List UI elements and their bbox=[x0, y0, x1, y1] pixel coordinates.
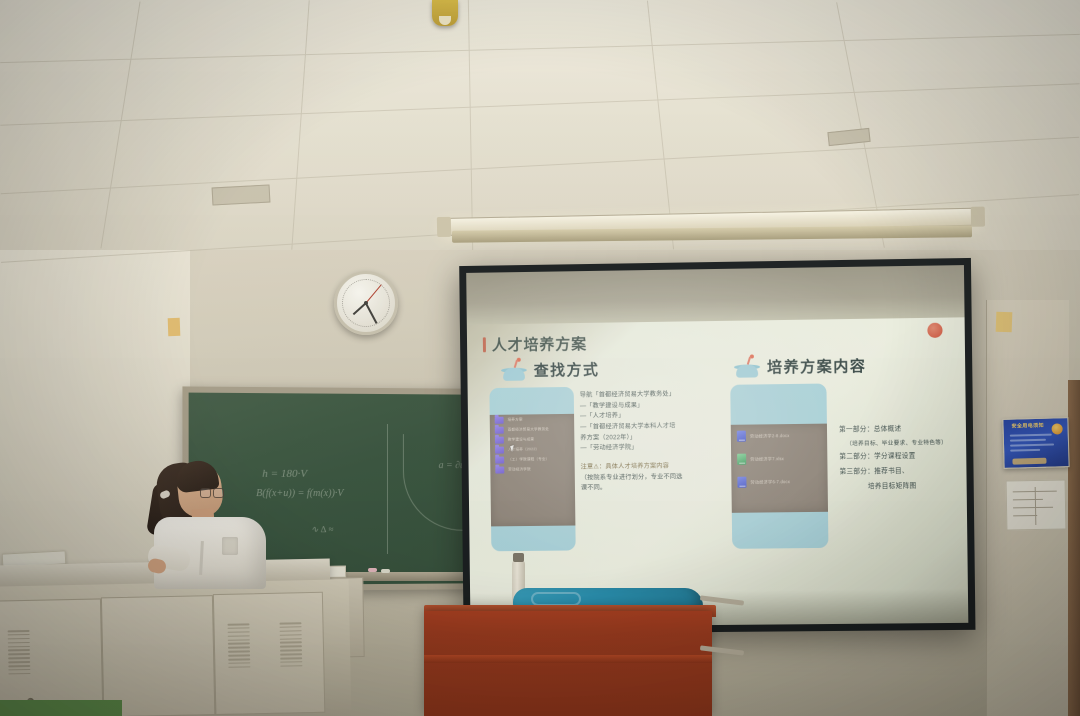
decorative-dot-icon bbox=[927, 323, 942, 338]
slide-title: 人才培养方案 bbox=[483, 328, 951, 356]
file-name: 劳动经济学6-7.docx bbox=[750, 479, 790, 485]
body-line: —「劳动经济学院」 bbox=[580, 442, 717, 454]
classroom-scene: h = 180·V B(f(x+u)) = f(m(x))·V a = ∂u ∿… bbox=[0, 0, 1080, 716]
list-item: 劳动经济学6-7.docx bbox=[731, 470, 827, 494]
ceiling-vent bbox=[212, 184, 271, 205]
folder-icon bbox=[495, 466, 504, 473]
presenter bbox=[148, 455, 278, 585]
slide-column-left: 查找方式 培养方案 bbox=[483, 356, 718, 551]
door-frame bbox=[1068, 380, 1080, 716]
wall-poster: 安全用电须知 bbox=[1002, 417, 1069, 469]
poster-seal-icon bbox=[1051, 423, 1062, 434]
chalk-mark: ∿ ∆ ≈ bbox=[311, 524, 334, 535]
body-line: 第三部分：推荐书目、 bbox=[839, 464, 952, 480]
green-bin bbox=[0, 700, 122, 716]
wall-notice-sheet bbox=[1006, 479, 1067, 530]
slide-title-text: 人才培养方案 bbox=[492, 333, 588, 355]
smoke-detector-icon bbox=[432, 0, 458, 26]
list-item: 劳动经济学院 bbox=[490, 464, 574, 475]
file-name: 首都经济贸易大学教务处 bbox=[508, 427, 549, 433]
screen-unlit-area bbox=[466, 265, 964, 325]
cabinet-door bbox=[101, 595, 215, 716]
chalk-curve bbox=[403, 434, 465, 531]
column-heading: 培养方案内容 bbox=[767, 355, 867, 377]
front-desk-body bbox=[0, 579, 351, 716]
chalk-piece bbox=[381, 569, 390, 573]
graduation-cap-icon bbox=[501, 359, 527, 381]
list-item: 劳动经济学7.xlsx bbox=[731, 447, 827, 471]
poster-footer-badge bbox=[1012, 458, 1046, 465]
chalk-piece bbox=[368, 568, 377, 572]
cabinet-vent bbox=[8, 630, 31, 677]
note-text: 注意⚠：具体人才培养方案内容 bbox=[581, 462, 670, 470]
podium-molding bbox=[424, 655, 712, 663]
column-heading: 查找方式 bbox=[534, 359, 600, 381]
body-line: 第一部分：总体概述 bbox=[839, 422, 952, 438]
folder-icon bbox=[495, 446, 504, 453]
file-explorer-card: 劳动经济学2-8.docx 劳动经济学7.xlsx 劳动经济学6-7.docx bbox=[730, 384, 828, 549]
column-body-text: 导航「首都经济贸易大学教务处」 —「教学建设与成果」 —「人才培养」 —「首都经… bbox=[580, 385, 719, 550]
projector-screen: 人才培养方案 查找方式 bbox=[459, 258, 975, 634]
file-name: 劳动经济学院 bbox=[508, 467, 531, 472]
file-explorer-screenshot: 劳动经济学2-8.docx 劳动经济学7.xlsx 劳动经济学6-7.docx bbox=[731, 424, 828, 513]
excel-document-icon bbox=[737, 454, 746, 465]
file-explorer-screenshot: 培养方案 首都经济贸易大学教务处 教学建设与成果 bbox=[490, 414, 576, 527]
wall-sticky-note bbox=[996, 312, 1013, 333]
chalk-curve bbox=[387, 424, 389, 554]
note-line: 课不同。 bbox=[581, 482, 718, 494]
cabinet-vent bbox=[279, 622, 302, 669]
folder-icon bbox=[495, 456, 504, 463]
file-explorer-card: 培养方案 首都经济贸易大学教务处 教学建设与成果 bbox=[489, 387, 575, 551]
body-line: （培养目标、毕业要求、专业特色等） bbox=[839, 437, 952, 451]
body-line: 培养目标矩阵图 bbox=[840, 479, 953, 495]
list-item: 劳动经济学2-8.docx bbox=[731, 424, 827, 448]
folder-icon bbox=[495, 426, 504, 433]
cabinet-vent bbox=[227, 623, 250, 670]
file-name: 教学建设与成果 bbox=[508, 437, 534, 442]
body-line: 第二部分：学分课程设置 bbox=[839, 450, 952, 466]
slide-column-right: 培养方案内容 劳动经济学2-8.docx bbox=[716, 353, 953, 549]
poster-title: 安全用电须知 bbox=[1011, 422, 1044, 430]
word-document-icon bbox=[737, 477, 746, 488]
wall-sticky-note bbox=[168, 318, 181, 336]
file-name: 劳动经济学7.xlsx bbox=[750, 456, 784, 462]
glasses-icon bbox=[200, 488, 222, 496]
file-name: 培养方案 bbox=[508, 417, 523, 422]
wall-clock bbox=[334, 271, 398, 335]
folder-icon bbox=[495, 416, 504, 423]
file-name: （工）学院课程（专业） bbox=[508, 457, 549, 462]
podium bbox=[424, 611, 712, 716]
presentation-slide: 人才培养方案 查找方式 bbox=[467, 317, 968, 601]
shirt-pocket bbox=[222, 537, 238, 555]
file-name: 劳动经济学2-8.docx bbox=[750, 433, 790, 439]
bottle-cap bbox=[513, 553, 524, 562]
title-accent-bar bbox=[483, 337, 486, 352]
graduation-cap-icon bbox=[734, 355, 760, 377]
folder-icon bbox=[495, 436, 504, 443]
column-body-text: 第一部分：总体概述 （培养目标、毕业要求、专业特色等） 第二部分：学分课程设置 … bbox=[832, 382, 953, 548]
word-document-icon bbox=[737, 431, 746, 442]
